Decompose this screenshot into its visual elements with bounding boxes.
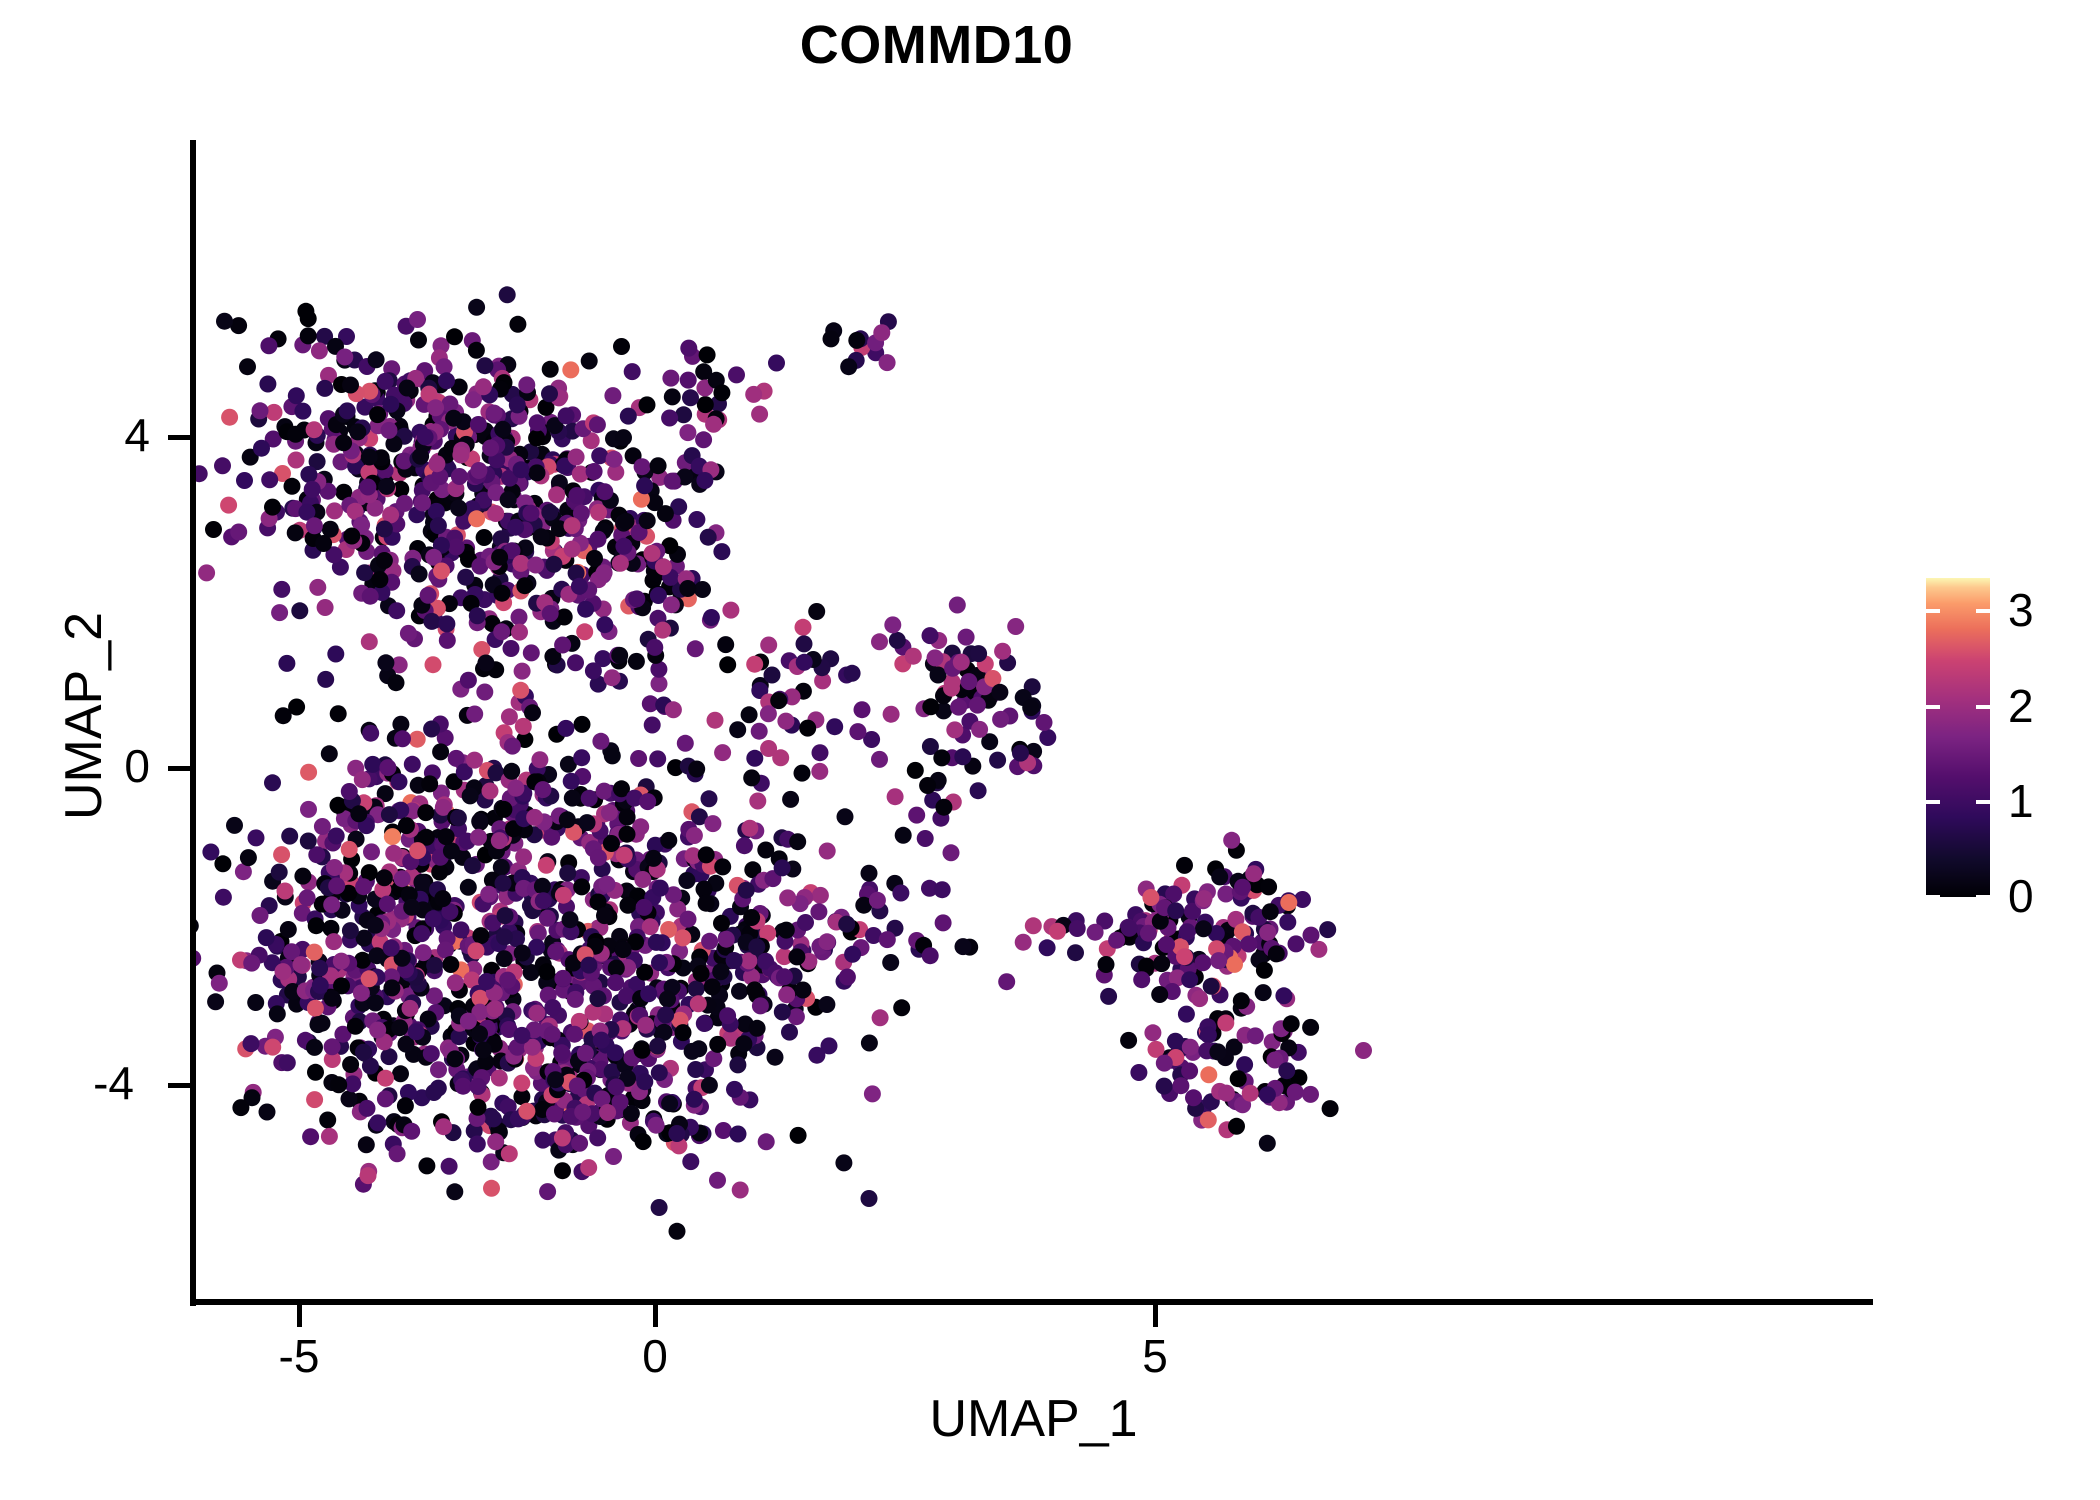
scatter-point — [1310, 941, 1327, 958]
scatter-point — [760, 705, 777, 722]
scatter-point — [1355, 1042, 1372, 1059]
scatter-point — [355, 1044, 372, 1061]
scatter-point — [619, 897, 636, 914]
scatter-point — [590, 504, 607, 521]
scatter-point — [475, 378, 492, 395]
scatter-point — [330, 1076, 347, 1093]
scatter-point — [678, 872, 695, 889]
scatter-point — [637, 1017, 654, 1034]
scatter-point — [426, 957, 443, 974]
scatter-point — [1039, 729, 1056, 746]
scatter-point — [300, 466, 317, 483]
scatter-point — [604, 387, 621, 404]
scatter-point — [294, 868, 311, 885]
scatter-point — [861, 1035, 878, 1052]
scatter-point — [259, 376, 276, 393]
scatter-point — [573, 749, 590, 766]
scatter-point — [316, 380, 333, 397]
scatter-point — [327, 646, 344, 663]
scatter-point — [564, 541, 581, 558]
scatter-point — [1217, 1015, 1234, 1032]
scatter-point — [563, 773, 580, 790]
scatter-point — [1259, 1086, 1276, 1103]
scatter-point — [291, 602, 308, 619]
scatter-point — [879, 931, 896, 948]
scatter-point — [325, 933, 342, 950]
scatter-point — [696, 472, 713, 489]
scatter-point — [513, 461, 530, 478]
scatter-point — [281, 828, 298, 845]
scatter-point — [482, 783, 499, 800]
scatter-point — [476, 357, 493, 374]
scatter-point — [431, 864, 448, 881]
scatter-point — [1195, 920, 1212, 937]
scatter-point — [412, 448, 429, 465]
scatter-point — [279, 1054, 296, 1071]
scatter-point — [887, 788, 904, 805]
scatter-point — [1268, 945, 1285, 962]
scatter-point — [927, 649, 944, 666]
x-tick-mark-neg5 — [297, 1305, 302, 1327]
scatter-point — [604, 669, 621, 686]
scatter-point — [917, 830, 934, 847]
scatter-point — [496, 928, 513, 945]
scatter-point — [705, 1050, 722, 1067]
scatter-point — [1200, 1111, 1217, 1128]
scatter-point — [392, 716, 409, 733]
scatter-point — [571, 578, 588, 595]
scatter-point — [624, 363, 641, 380]
scatter-point — [515, 718, 532, 735]
scatter-point — [411, 566, 428, 583]
scatter-point — [639, 793, 656, 810]
scatter-point — [746, 750, 763, 767]
scatter-point — [612, 555, 629, 572]
scatter-point — [514, 663, 531, 680]
scatter-point — [439, 632, 456, 649]
scatter-point — [216, 313, 233, 330]
scatter-point — [649, 1038, 666, 1055]
scatter-point — [732, 1182, 749, 1199]
scatter-point — [511, 609, 528, 626]
scatter-point — [240, 849, 257, 866]
scatter-point — [680, 372, 697, 389]
scatter-point — [417, 804, 434, 821]
scatter-point — [585, 662, 602, 679]
scatter-point — [1194, 954, 1211, 971]
scatter-point — [369, 1114, 386, 1131]
scatter-point — [446, 1183, 463, 1200]
scatter-point — [513, 1075, 530, 1092]
scatter-point — [260, 337, 277, 354]
scatter-point — [1210, 952, 1227, 969]
scatter-point — [714, 744, 731, 761]
scatter-point — [586, 463, 603, 480]
scatter-point — [330, 797, 347, 814]
scatter-point — [504, 738, 521, 755]
scatter-point — [1156, 1055, 1173, 1072]
scatter-point — [425, 1084, 442, 1101]
scatter-point — [341, 1090, 358, 1107]
scatter-point — [503, 763, 520, 780]
scatter-point — [639, 512, 656, 529]
scatter-point — [358, 1136, 375, 1153]
scatter-point — [513, 1027, 530, 1044]
scatter-point — [659, 991, 676, 1008]
scatter-point — [364, 756, 381, 773]
scatter-point — [539, 1183, 556, 1200]
scatter-point — [698, 895, 715, 912]
scatter-point — [590, 531, 607, 548]
scatter-point — [1179, 923, 1196, 940]
scatter-point — [634, 1042, 651, 1059]
scatter-point — [307, 1064, 324, 1081]
scatter-point — [294, 403, 311, 420]
scatter-point — [1069, 920, 1086, 937]
scatter-point — [363, 843, 380, 860]
scatter-point — [668, 1125, 685, 1142]
scatter-point — [718, 931, 735, 948]
scatter-point — [844, 946, 861, 963]
x-tick-label-neg5: -5 — [229, 1333, 369, 1379]
scatter-point — [421, 775, 438, 792]
scatter-point — [302, 1128, 319, 1145]
scatter-point — [686, 1091, 703, 1108]
scatter-plot-canvas — [194, 140, 1873, 1302]
scatter-point — [252, 907, 269, 924]
scatter-point — [404, 756, 421, 773]
scatter-point — [362, 725, 379, 742]
scatter-point — [690, 995, 707, 1012]
scatter-point — [534, 878, 551, 895]
scatter-point — [872, 1009, 889, 1026]
scatter-point — [300, 833, 317, 850]
scatter-point — [1278, 1062, 1295, 1079]
scatter-point — [782, 791, 799, 808]
scatter-point — [908, 807, 925, 824]
scatter-point — [496, 950, 513, 967]
scatter-point — [687, 640, 704, 657]
scatter-point — [304, 481, 321, 498]
scatter-point — [1176, 948, 1193, 965]
scatter-point — [1121, 920, 1138, 937]
scatter-point — [472, 927, 489, 944]
scatter-point — [663, 596, 680, 613]
scatter-point — [1196, 890, 1213, 907]
scatter-point — [729, 721, 746, 738]
scatter-point — [580, 1159, 597, 1176]
scatter-point — [715, 1122, 732, 1139]
scatter-point — [949, 597, 966, 614]
scatter-point — [774, 1004, 791, 1021]
scatter-point — [688, 511, 705, 528]
scatter-point — [315, 535, 332, 552]
scatter-point — [1140, 925, 1157, 942]
scatter-point — [707, 712, 724, 729]
scatter-point — [615, 538, 632, 555]
scatter-point — [1200, 1066, 1217, 1083]
scatter-point — [701, 933, 718, 950]
scatter-point — [447, 974, 464, 991]
scatter-point — [599, 876, 616, 893]
scatter-point — [428, 455, 445, 472]
scatter-point — [541, 385, 558, 402]
scatter-point — [261, 471, 278, 488]
scatter-point — [362, 588, 379, 605]
scatter-point — [543, 829, 560, 846]
scatter-point — [953, 654, 970, 671]
scatter-point — [554, 637, 571, 654]
scatter-point — [589, 990, 606, 1007]
scatter-point — [1153, 955, 1170, 972]
x-tick-mark-5 — [1153, 1305, 1158, 1327]
scatter-point — [854, 701, 871, 718]
scatter-point — [466, 752, 483, 769]
scatter-point — [698, 846, 715, 863]
scatter-point — [378, 478, 395, 495]
scatter-point — [359, 1100, 376, 1117]
scatter-point — [495, 875, 512, 892]
scatter-point — [501, 1145, 518, 1162]
scatter-point — [430, 517, 447, 534]
scatter-point — [383, 979, 400, 996]
scatter-point — [1022, 699, 1039, 716]
scatter-point — [837, 808, 854, 825]
scatter-point — [922, 627, 939, 644]
scatter-point — [745, 386, 762, 403]
scatter-point — [420, 587, 437, 604]
scatter-point — [403, 899, 420, 916]
scatter-point — [300, 327, 317, 344]
scatter-point — [441, 396, 458, 413]
scatter-point — [369, 1022, 386, 1039]
scatter-point — [471, 1025, 488, 1042]
scatter-point — [748, 938, 765, 955]
scatter-point — [799, 720, 816, 737]
scatter-point — [486, 405, 503, 422]
scatter-point — [635, 1133, 652, 1150]
scatter-point — [701, 1077, 718, 1094]
scatter-point — [409, 731, 426, 748]
scatter-point — [1098, 956, 1115, 973]
scatter-point — [935, 914, 952, 931]
scatter-point — [269, 1005, 286, 1022]
scatter-point — [646, 639, 663, 656]
scatter-point — [581, 790, 598, 807]
scatter-point — [342, 377, 359, 394]
scatter-point — [368, 947, 385, 964]
scatter-point — [236, 472, 253, 489]
scatter-point — [544, 999, 561, 1016]
scatter-point — [264, 774, 281, 791]
scatter-point — [726, 1081, 743, 1098]
scatter-point — [326, 859, 343, 876]
scatter-point — [394, 730, 411, 747]
scatter-point — [636, 1073, 653, 1090]
scatter-point — [311, 960, 328, 977]
scatter-point — [946, 721, 963, 738]
scatter-point — [648, 1117, 665, 1134]
scatter-point — [427, 399, 444, 416]
scatter-point — [684, 1043, 701, 1060]
scatter-point — [574, 716, 591, 733]
scatter-point — [512, 682, 529, 699]
scatter-point — [477, 655, 494, 672]
scatter-point — [342, 922, 359, 939]
scatter-point — [717, 636, 734, 653]
scatter-point — [709, 1036, 726, 1053]
scatter-point — [636, 477, 653, 494]
scatter-point — [564, 790, 581, 807]
scatter-point — [324, 990, 341, 1007]
scatter-point — [1226, 956, 1243, 973]
scatter-point — [483, 1180, 500, 1197]
scatter-point — [611, 647, 628, 664]
scatter-point — [1025, 917, 1042, 934]
scatter-point — [471, 813, 488, 830]
scatter-point — [1156, 1078, 1173, 1095]
scatter-point — [749, 1020, 766, 1037]
scatter-point — [273, 581, 290, 598]
scatter-point — [760, 637, 777, 654]
scatter-point — [795, 982, 812, 999]
scatter-point — [726, 952, 743, 969]
x-tick-mark-0 — [653, 1305, 658, 1327]
scatter-point — [1176, 857, 1193, 874]
scatter-point — [564, 517, 581, 534]
scatter-point — [649, 750, 666, 767]
scatter-point — [760, 740, 777, 757]
scatter-point — [381, 1048, 398, 1065]
scatter-point — [259, 1104, 276, 1121]
scatter-point — [618, 513, 635, 530]
scatter-point — [293, 956, 310, 973]
scatter-point — [297, 303, 314, 320]
scatter-point — [277, 883, 294, 900]
scatter-point — [388, 674, 405, 691]
scatter-point — [562, 361, 579, 378]
scatter-point — [1217, 886, 1234, 903]
scatter-point — [882, 954, 899, 971]
scatter-point — [518, 1103, 535, 1120]
scatter-point — [943, 844, 960, 861]
scatter-point — [700, 529, 717, 546]
scatter-point — [515, 848, 532, 865]
scatter-point — [398, 817, 415, 834]
scatter-point — [573, 878, 590, 895]
scatter-point — [616, 847, 633, 864]
scatter-point — [330, 705, 347, 722]
scatter-point — [1167, 1033, 1184, 1050]
scatter-point — [1039, 939, 1056, 956]
scatter-point — [214, 457, 231, 474]
scatter-point — [615, 941, 632, 958]
scatter-point — [768, 355, 785, 372]
scatter-point — [453, 921, 470, 938]
scatter-point — [194, 465, 208, 482]
scatter-point — [478, 973, 495, 990]
scatter-point — [652, 880, 669, 897]
scatter-point — [619, 826, 636, 843]
scatter-point — [501, 708, 518, 725]
scatter-point — [586, 550, 603, 567]
scatter-point — [391, 1019, 408, 1036]
scatter-point — [651, 1199, 668, 1216]
scatter-point — [464, 857, 481, 874]
scatter-point — [705, 416, 722, 433]
scatter-point — [735, 1035, 752, 1052]
scatter-point — [639, 396, 656, 413]
scatter-point — [695, 431, 712, 448]
scatter-point — [675, 1024, 692, 1041]
scatter-point — [650, 457, 667, 474]
scatter-point — [264, 499, 281, 516]
scatter-point — [336, 349, 353, 366]
scatter-point — [1172, 1077, 1189, 1094]
scatter-point — [317, 599, 334, 616]
scatter-point — [861, 1190, 878, 1207]
scatter-point — [620, 408, 637, 425]
scatter-point — [729, 1056, 746, 1073]
scatter-point — [243, 955, 260, 972]
scatter-point — [680, 340, 697, 357]
scatter-point — [840, 358, 857, 375]
scatter-point — [287, 524, 304, 541]
scatter-point — [328, 828, 345, 845]
scatter-point — [905, 648, 922, 665]
scatter-point — [1200, 1027, 1217, 1044]
scatter-point — [796, 635, 813, 652]
scatter-point — [445, 410, 462, 427]
scatter-point — [308, 917, 325, 934]
scatter-point — [576, 623, 593, 640]
scatter-point — [849, 723, 866, 740]
scatter-point — [596, 483, 613, 500]
scatter-point — [534, 1132, 551, 1149]
scatter-point — [998, 973, 1015, 990]
scatter-point — [252, 402, 269, 419]
scatter-point — [674, 929, 691, 946]
colorbar-tick-label-2: 2 — [2008, 683, 2078, 729]
scatter-point — [823, 330, 840, 347]
scatter-point — [400, 625, 417, 642]
scatter-point — [553, 1044, 570, 1061]
scatter-point — [273, 846, 290, 863]
scatter-point — [1151, 986, 1168, 1003]
scatter-point — [207, 993, 224, 1010]
scatter-point — [381, 422, 398, 439]
scatter-point — [438, 615, 455, 632]
scatter-point — [389, 1145, 406, 1162]
scatter-point — [861, 865, 878, 882]
scatter-point — [493, 623, 510, 640]
scatter-point — [326, 502, 343, 519]
scatter-point — [883, 706, 900, 723]
scatter-point — [661, 410, 678, 427]
scatter-point — [1287, 1084, 1304, 1101]
scatter-point — [350, 805, 367, 822]
scatter-point — [278, 655, 295, 672]
scatter-point — [743, 769, 760, 786]
scatter-point — [413, 874, 430, 891]
scatter-point — [376, 552, 393, 569]
scatter-point — [1234, 879, 1251, 896]
scatter-point — [1288, 935, 1305, 952]
scatter-point — [462, 787, 479, 804]
scatter-point — [221, 409, 238, 426]
scatter-point — [701, 790, 718, 807]
scatter-point — [679, 580, 696, 597]
